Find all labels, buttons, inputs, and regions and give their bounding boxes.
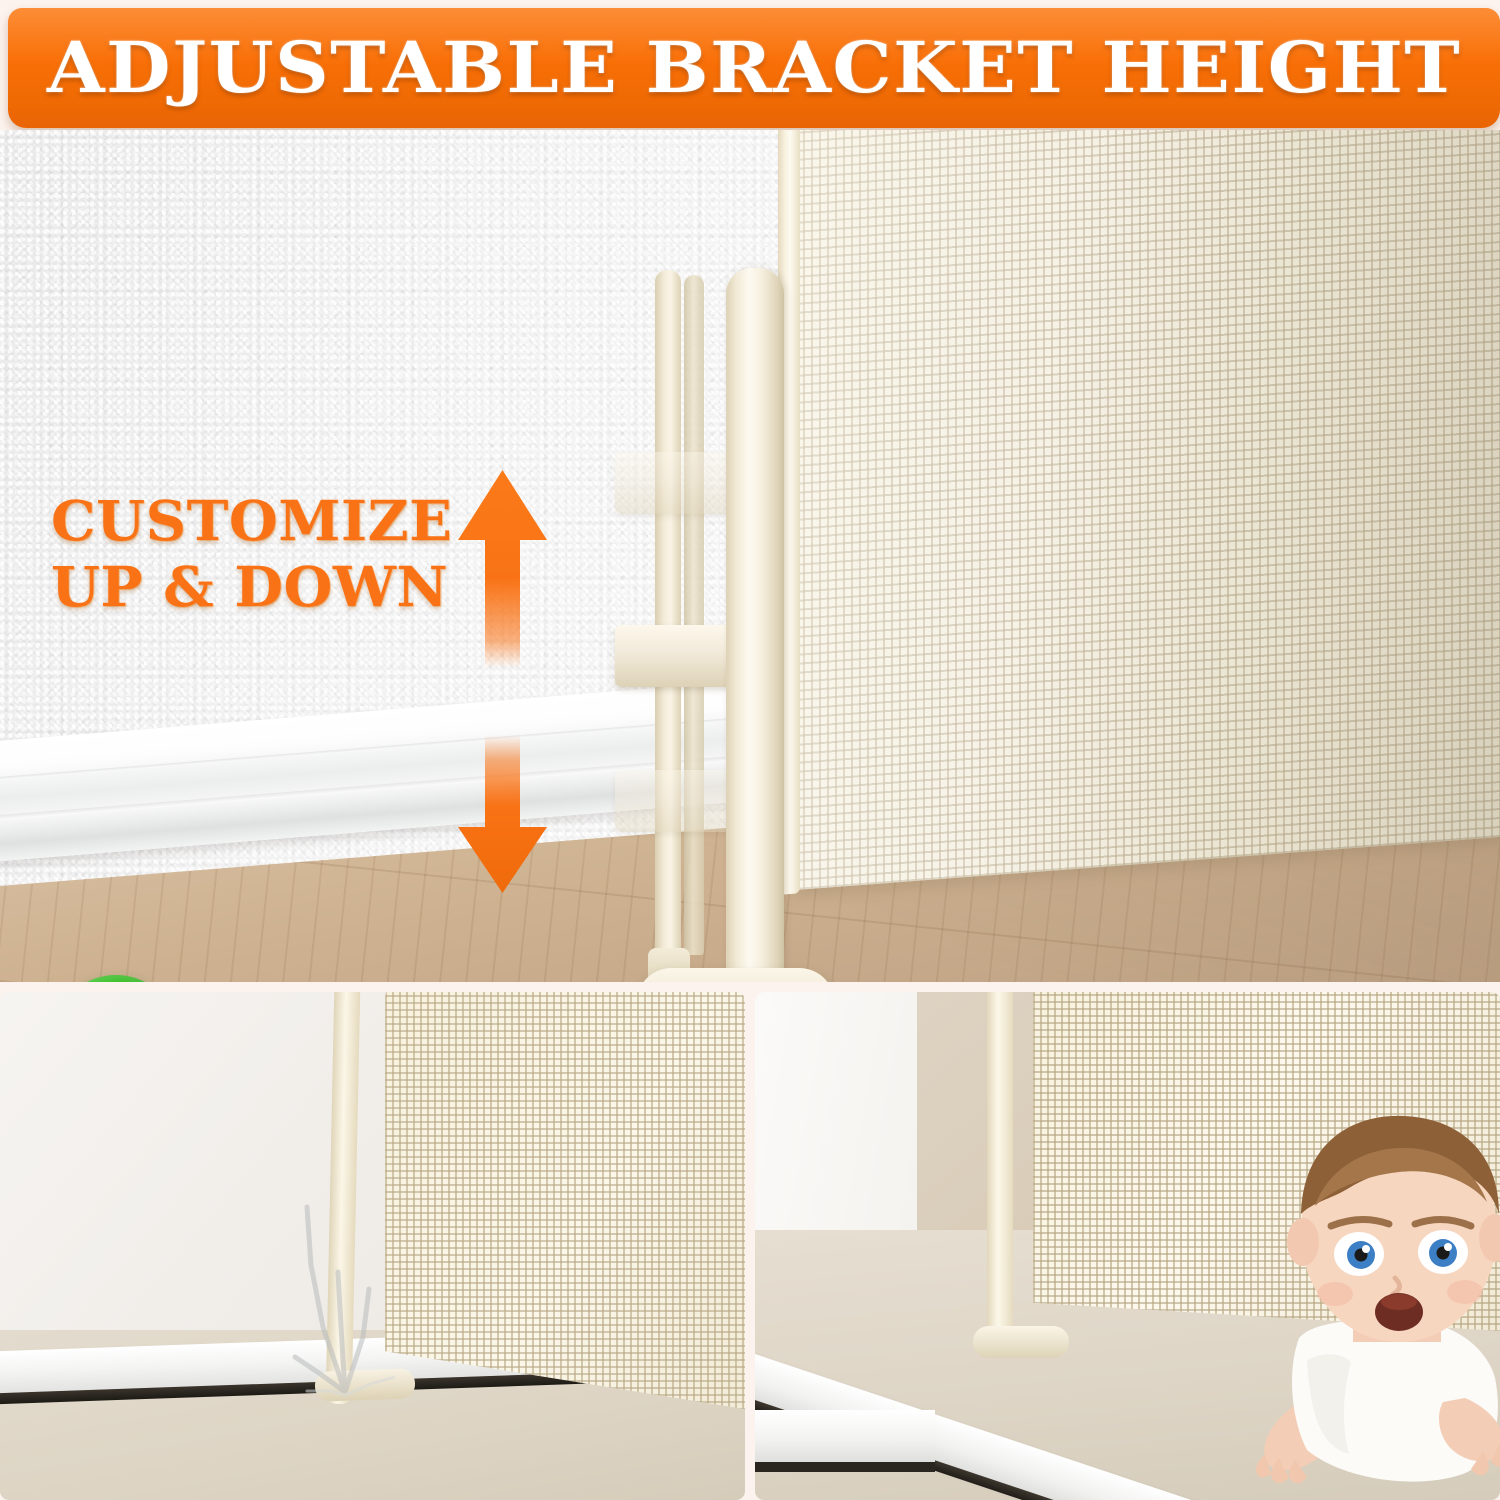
- br-gate-foot: [973, 1326, 1069, 1358]
- gate-tension-pole: [726, 268, 784, 982]
- headline-line-2: UP & DOWN: [51, 554, 459, 620]
- bracket-position-middle: [615, 625, 735, 687]
- br-lower-baseboard: [755, 1410, 935, 1464]
- gate-inner-rod-secondary: [684, 275, 704, 955]
- gate-mesh-panel: [795, 130, 1500, 890]
- hero-headline: CUSTOMIZE UP & DOWN: [51, 488, 459, 620]
- br-gate-post: [987, 992, 1013, 1338]
- panel-gap-horizontal: [0, 982, 1500, 992]
- headline-line-1: CUSTOMIZE: [51, 488, 459, 554]
- header-banner: ADJUSTABLE BRACKET HEIGHT: [8, 8, 1500, 128]
- arrow-down-icon: [455, 735, 550, 895]
- hero-panel: CUSTOMIZE UP & DOWN: [0, 130, 1500, 982]
- arrow-up-icon: [455, 468, 550, 668]
- bracket-position-upper: [615, 452, 735, 514]
- panel-gap-under-gate: [755, 992, 1500, 1500]
- wall-crack-icon: [245, 1177, 395, 1397]
- infographic-root: ADJUSTABLE BRACKET HEIGHT: [0, 0, 1500, 1500]
- gate-base-plate: [638, 968, 833, 982]
- panel-gap-at-wall: [0, 992, 745, 1500]
- panel-gap-vertical: [745, 992, 755, 1500]
- bracket-position-lower: [615, 770, 735, 832]
- br-lower-baseboard-shadow: [755, 1462, 935, 1472]
- gate-inner-rod: [655, 270, 681, 960]
- baby-illustration: [1203, 1102, 1500, 1500]
- banner-title: ADJUSTABLE BRACKET HEIGHT: [47, 33, 1461, 103]
